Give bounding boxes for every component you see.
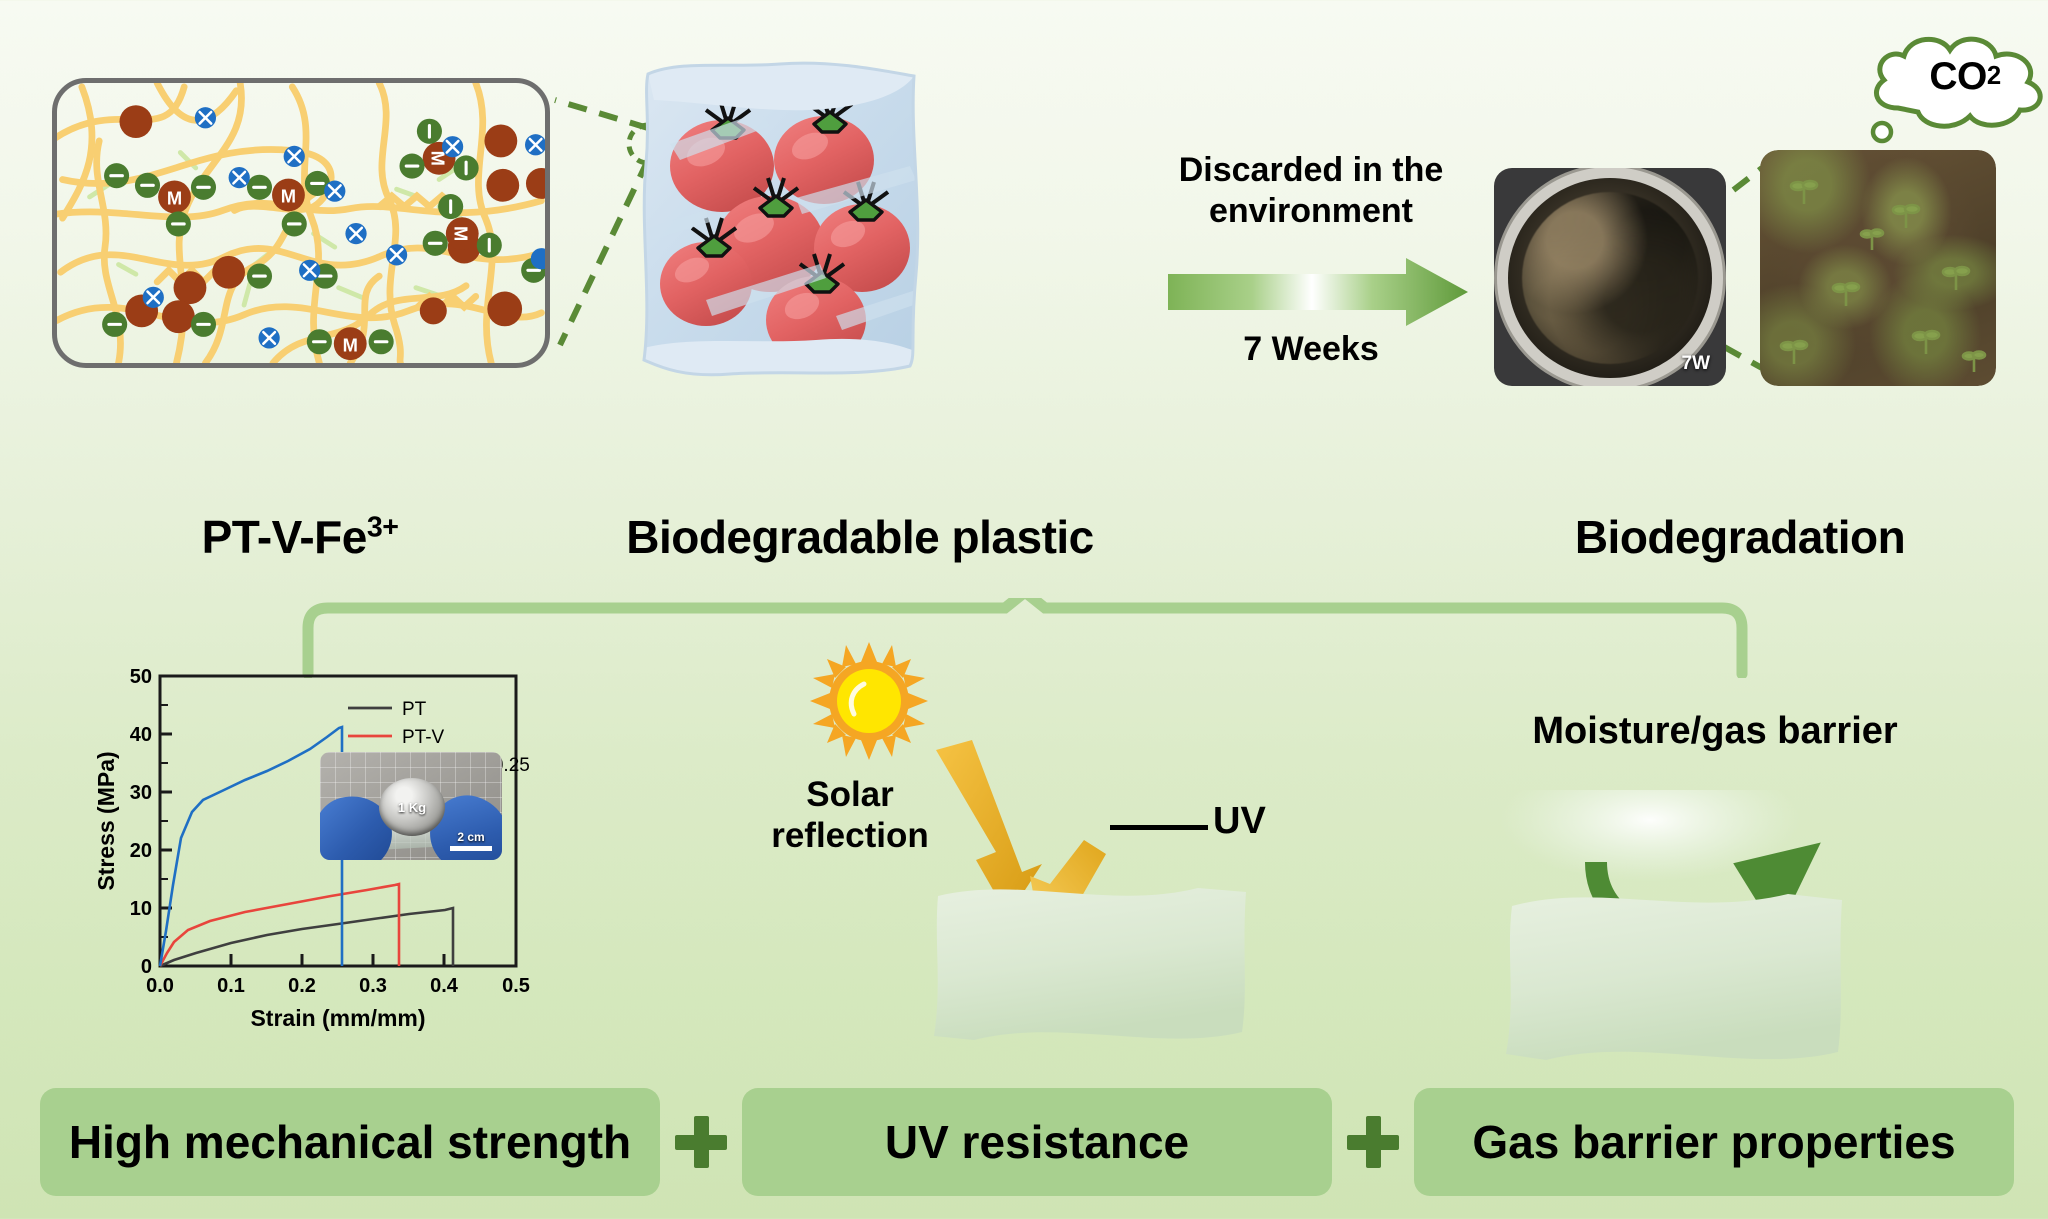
process-arrow: [1168, 258, 1468, 326]
barrier-film-sheet: [1506, 894, 1842, 1060]
banner-mechanical-strength: High mechanical strength: [40, 1088, 660, 1196]
ytick-10: 10: [130, 898, 152, 920]
moisture-barrier-label: Moisture/gas barrier: [1480, 710, 1950, 753]
chart-x-tick-labels: 0.0 0.1 0.2 0.3 0.4 0.5: [146, 975, 530, 997]
sun-core: [837, 669, 901, 733]
compost-pot-photo: 7W: [1494, 168, 1726, 386]
soil-seedlings-photo: [1760, 150, 1996, 386]
sun-icon: [808, 640, 930, 762]
inset-scale-bar: 2 cm: [450, 830, 492, 851]
chart-inset-photo: 1 Kg 2 cm: [320, 752, 502, 860]
ytick-40: 40: [130, 724, 152, 746]
solar-reflection-label: Solar reflection: [740, 775, 960, 856]
packaged-tomatoes-illustration: [610, 48, 950, 388]
co2-subscript: 2: [1987, 62, 2001, 91]
co2-thought-bubble: CO2: [1862, 24, 2048, 144]
pot-soil-surface: [1508, 178, 1712, 378]
pot-week-label: 7W: [1682, 353, 1711, 375]
ytick-20: 20: [130, 840, 152, 862]
ytick-30: 30: [130, 782, 152, 804]
duration-label: 7 Weeks: [1176, 330, 1446, 369]
xtick-2: 0.2: [288, 975, 316, 997]
chart-y-axis-label: Stress (MPa): [93, 751, 119, 890]
chart-y-tick-labels: 0 10 20 30 40 50: [130, 666, 152, 978]
svg-text:M: M: [343, 334, 358, 355]
co2-main: CO: [1929, 55, 1987, 99]
xtick-5: 0.5: [502, 975, 530, 997]
section-title-right: Biodegradation: [1460, 510, 2020, 564]
network-svg: M M M: [57, 83, 545, 363]
section-title-center: Biodegradable plastic: [600, 510, 1120, 564]
inset-scale-label: 2 cm: [457, 830, 484, 844]
banner-gas-barrier: Gas barrier properties: [1414, 1088, 2014, 1196]
plus-icon: [1347, 1116, 1399, 1168]
svg-text:M: M: [167, 188, 182, 209]
co2-label: CO2: [1862, 24, 2048, 129]
gas-barrier-illustration: [1500, 790, 1930, 1080]
section-title-left-sup: 3+: [367, 512, 399, 544]
xtick-0: 0.0: [146, 975, 174, 997]
benefits-banner-row: High mechanical strength UV resistance G…: [40, 1088, 2015, 1196]
section-title-left: PT-V-Fe3+: [60, 510, 540, 564]
seedlings-overlay: [1760, 150, 1996, 386]
banner-uv-resistance: UV resistance: [742, 1088, 1332, 1196]
uv-film-sheet: [930, 880, 1260, 1060]
solar-label-line2: reflection: [740, 816, 960, 857]
xtick-1: 0.1: [217, 975, 245, 997]
plus-separator-2: [1332, 1116, 1414, 1168]
discard-label-line1: Discarded in the: [1146, 150, 1476, 191]
plus-icon: [675, 1116, 727, 1168]
discard-label-line2: environment: [1146, 191, 1476, 232]
section-title-left-main: PT-V-Fe: [202, 511, 367, 563]
series-line-pt: [160, 908, 453, 966]
stress-strain-chart: 0 10 20 30 40 50 0.0 0.1 0.2 0.: [92, 660, 552, 1060]
inset-scale-line: [450, 846, 492, 851]
legend-label-ptv: PT-V: [402, 727, 445, 748]
plus-separator-1: [660, 1116, 742, 1168]
graphical-abstract-canvas: M M M: [0, 0, 2048, 1219]
polymer-network-diagram: M M M: [52, 78, 550, 368]
xtick-4: 0.4: [430, 975, 459, 997]
discard-label: Discarded in the environment: [1146, 150, 1476, 232]
chart-x-axis-label: Strain (mm/mm): [250, 1005, 425, 1031]
bag-bottom-fold: [644, 339, 913, 375]
uv-label: UV: [1213, 800, 1266, 843]
ytick-50: 50: [130, 666, 152, 688]
uv-leader-line: [1110, 825, 1208, 830]
inset-weight-label: 1 Kg: [398, 800, 426, 815]
chart-svg: 0 10 20 30 40 50 0.0 0.1 0.2 0.: [92, 660, 552, 1060]
chart-x-ticks: [160, 954, 516, 966]
svg-text:M: M: [451, 226, 472, 241]
inset-weight: 1 Kg: [379, 778, 445, 836]
solar-label-line1: Solar: [740, 775, 960, 816]
legend-label-pt: PT: [402, 699, 427, 720]
svg-text:M: M: [281, 186, 296, 207]
xtick-3: 0.3: [359, 975, 387, 997]
